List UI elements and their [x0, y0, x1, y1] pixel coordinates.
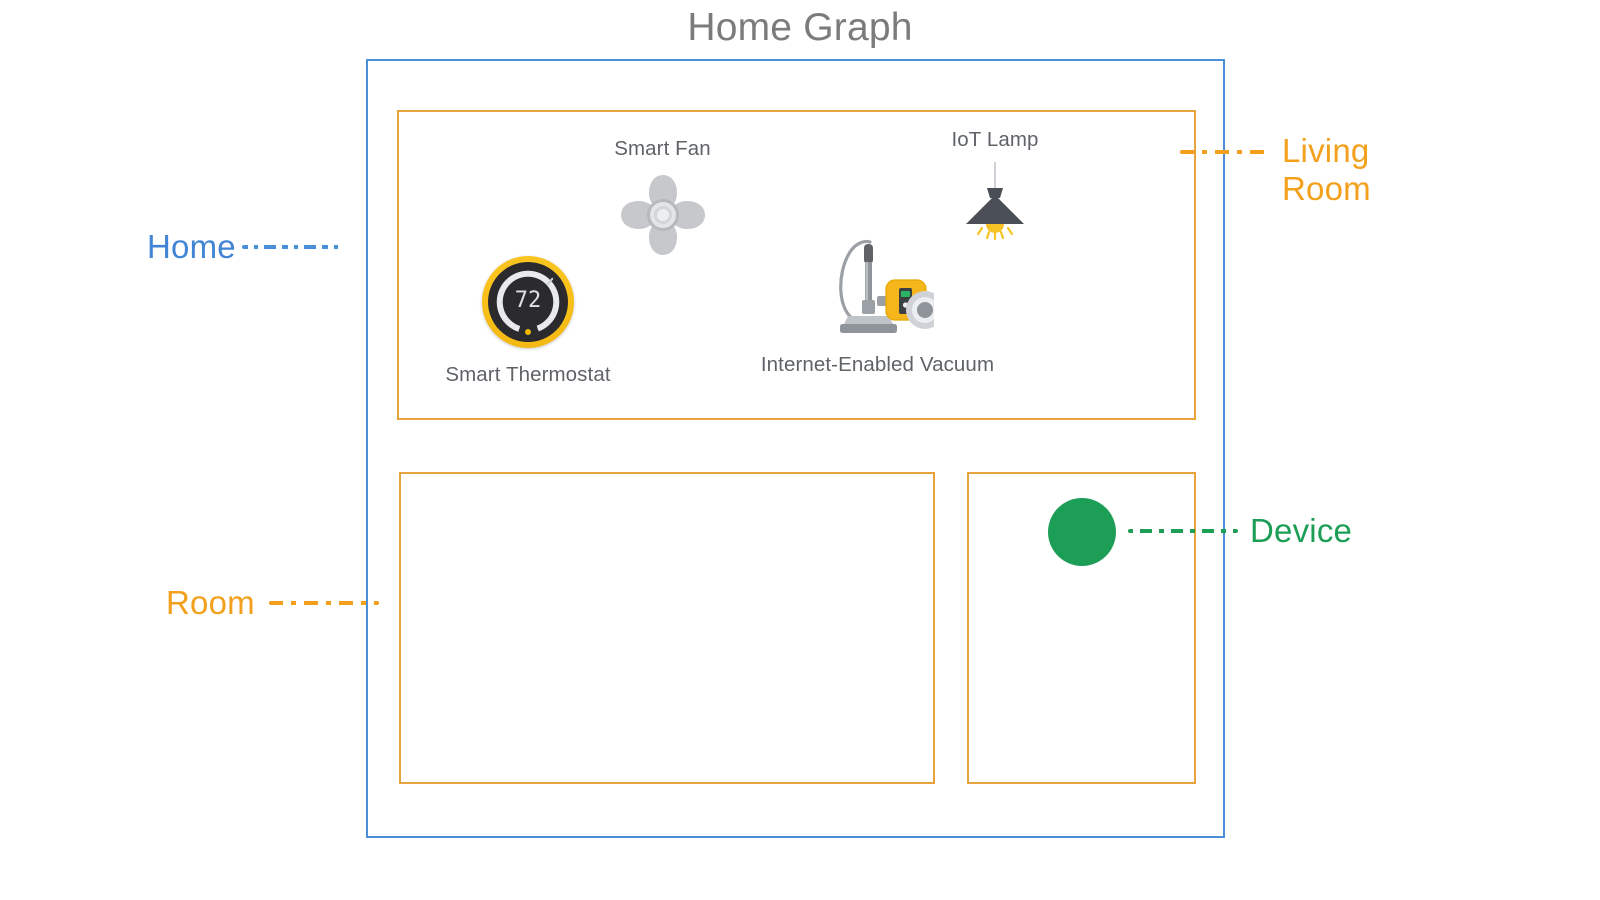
- device-label-smart-fan: Smart Fan: [580, 137, 745, 161]
- smart-thermostat-icon: 72: [482, 256, 574, 348]
- vacuum-cleaner-icon: [822, 234, 934, 344]
- thermostat-status-dot: [525, 329, 531, 335]
- annotation-device: Device: [1128, 512, 1352, 550]
- annotation-home: Home: [147, 228, 342, 266]
- device-iot-lamp[interactable]: IoT Lamp: [930, 128, 1060, 240]
- device-label-iot-lamp: IoT Lamp: [930, 128, 1060, 152]
- leader-line-living-room: [1180, 150, 1270, 154]
- thermostat-temperature-value: 72: [482, 288, 574, 313]
- annotation-room: Room: [166, 584, 379, 622]
- annotation-label-living-room-line2: Room: [1282, 170, 1371, 207]
- annotation-label-living-room: LivingRoom: [1282, 132, 1371, 209]
- device-smart-fan[interactable]: Smart Fan: [580, 137, 745, 261]
- room-box-empty-left: [399, 472, 935, 784]
- annotation-label-living-room-line1: Living: [1282, 132, 1369, 169]
- device-label-smart-thermostat: Smart Thermostat: [443, 363, 613, 387]
- device-label-internet-enabled-vacuum: Internet-Enabled Vacuum: [745, 353, 1010, 377]
- page-title: Home Graph: [0, 6, 1600, 50]
- leader-line-device: [1128, 529, 1238, 533]
- device-smart-thermostat[interactable]: 72 Smart Thermostat: [443, 256, 613, 387]
- filled-circle-icon[interactable]: [1048, 498, 1116, 566]
- annotation-living-room: LivingRoom: [1180, 132, 1371, 209]
- pendant-lamp-icon: [952, 162, 1038, 240]
- annotation-label-device: Device: [1250, 512, 1352, 550]
- device-internet-enabled-vacuum[interactable]: Internet-Enabled Vacuum: [745, 234, 1010, 377]
- leader-line-room: [269, 601, 379, 605]
- leader-line-home: [242, 245, 342, 249]
- annotation-label-room: Room: [166, 584, 255, 622]
- smart-fan-icon: [611, 169, 715, 261]
- annotation-label-home: Home: [147, 228, 236, 266]
